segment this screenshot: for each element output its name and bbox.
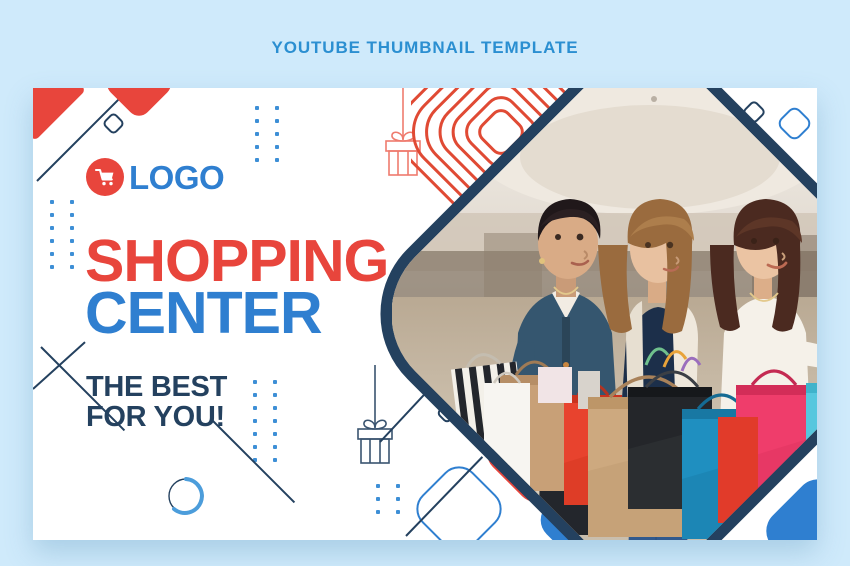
headline: SHOPPING CENTER: [85, 236, 388, 340]
dot-grid-middle: [253, 380, 277, 462]
hero-photo: [392, 88, 817, 540]
dot-grid-bottom: [376, 484, 400, 514]
diagonal-line-navy-left-icon: [33, 341, 86, 389]
diamond-outline-navy-small-icon: [101, 111, 125, 135]
brand-logo[interactable]: LOGO: [86, 158, 224, 196]
circle-arc-blue-icon: [165, 475, 207, 519]
thumbnail-card: LOGO SHOPPING CENTER THE BEST FOR YOU!: [33, 88, 817, 540]
diagonal-line-navy-br-icon: [405, 456, 483, 537]
page-title: YOUTUBE THUMBNAIL TEMPLATE: [0, 38, 850, 58]
shopping-scene-illustration: [392, 88, 817, 540]
subheadline-line-2: FOR YOU!: [86, 403, 227, 433]
subheadline: THE BEST FOR YOU!: [86, 373, 227, 432]
gift-box-navy-icon: [345, 365, 405, 475]
shopping-cart-icon: [86, 158, 124, 196]
dot-grid-top: [255, 106, 279, 162]
corner-triangle-red-icon: [33, 88, 86, 141]
gift-box-red-icon: [373, 88, 433, 193]
hero-photo-frame: [342, 88, 817, 540]
diamond-outline-blue-bottom-icon: [408, 458, 510, 540]
dot-grid-left: [50, 200, 74, 269]
diamond-red-top-icon: [102, 88, 176, 121]
subheadline-line-1: THE BEST: [86, 373, 227, 403]
diagonal-line-navy-gift-icon: [379, 390, 428, 443]
diamond-outline-blue-topright-icon: [775, 104, 813, 142]
headline-line-2: CENTER: [85, 288, 388, 340]
logo-text: LOGO: [129, 161, 224, 194]
